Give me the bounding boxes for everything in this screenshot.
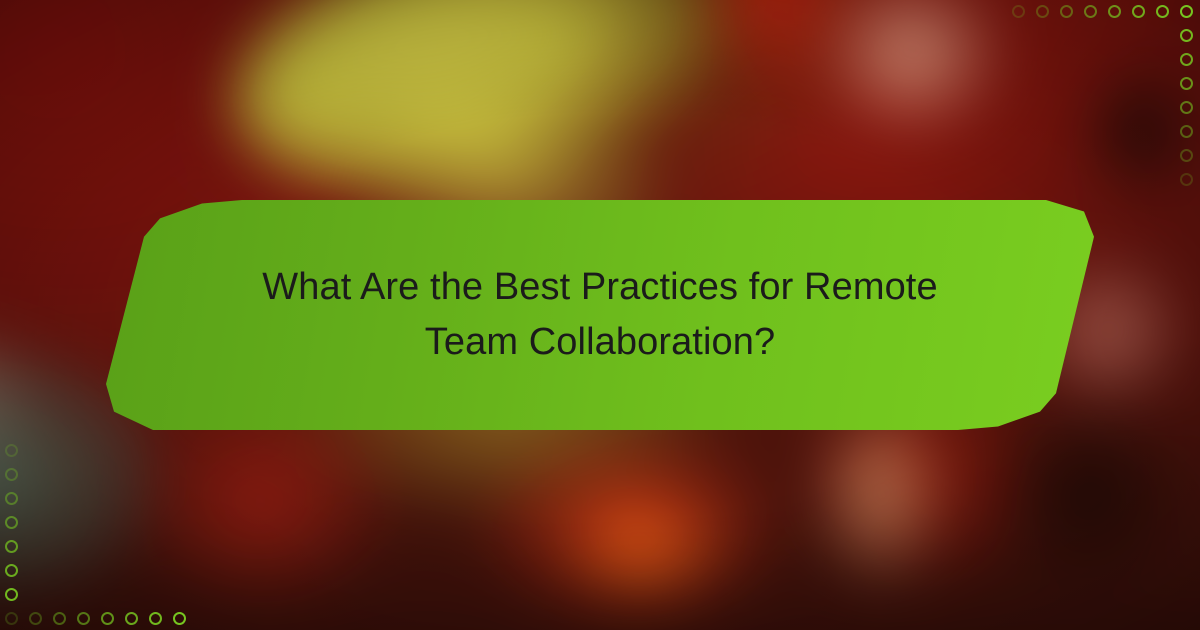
decorative-dot xyxy=(125,612,138,625)
decorative-dot xyxy=(1084,5,1097,18)
decorative-dot xyxy=(1012,5,1025,18)
social-card-canvas: What Are the Best Practices for Remote T… xyxy=(0,0,1200,630)
page-title: What Are the Best Practices for Remote T… xyxy=(100,200,1100,430)
decorative-dot xyxy=(1036,5,1049,18)
decorative-dot xyxy=(5,588,18,601)
decorative-dot xyxy=(1180,173,1193,186)
title-card: What Are the Best Practices for Remote T… xyxy=(100,200,1100,430)
decorative-dot xyxy=(5,516,18,529)
decorative-dot xyxy=(5,564,18,577)
decorative-dot xyxy=(173,612,186,625)
decorative-dot xyxy=(1180,125,1193,138)
decorative-dot xyxy=(1132,5,1145,18)
decorative-dot xyxy=(1180,101,1193,114)
decorative-dot xyxy=(77,612,90,625)
dot-pattern-top-right xyxy=(1000,0,1200,200)
decorative-dot xyxy=(101,612,114,625)
decorative-dot xyxy=(5,540,18,553)
decorative-dot xyxy=(53,612,66,625)
decorative-dot xyxy=(5,612,18,625)
decorative-dot xyxy=(1180,5,1193,18)
decorative-dot xyxy=(149,612,162,625)
decorative-dot xyxy=(29,612,42,625)
decorative-dot xyxy=(5,444,18,457)
decorative-dot xyxy=(5,492,18,505)
decorative-dot xyxy=(1180,29,1193,42)
decorative-dot xyxy=(1108,5,1121,18)
decorative-dot xyxy=(1180,53,1193,66)
decorative-dot xyxy=(1180,77,1193,90)
dot-pattern-bottom-left xyxy=(0,430,200,630)
decorative-dot xyxy=(1156,5,1169,18)
decorative-dot xyxy=(5,468,18,481)
decorative-dot xyxy=(1180,149,1193,162)
decorative-dot xyxy=(1060,5,1073,18)
